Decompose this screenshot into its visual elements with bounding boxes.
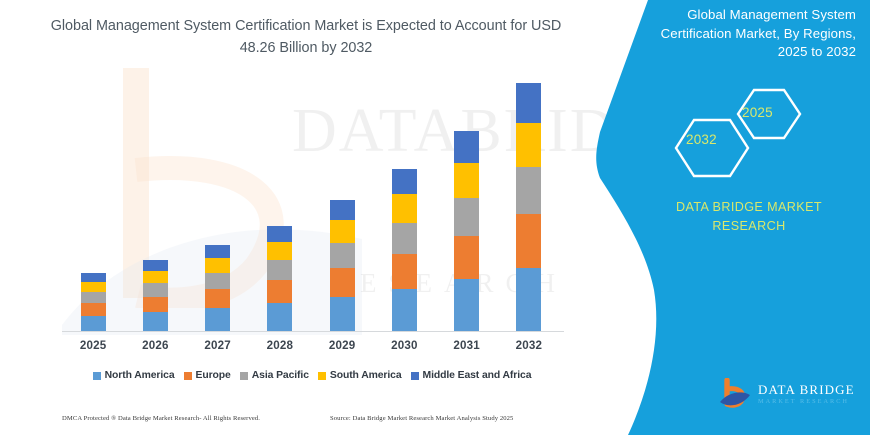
segment-europe[interactable]: [516, 214, 541, 267]
segment-south-america[interactable]: [81, 282, 106, 292]
segment-north-america[interactable]: [143, 312, 168, 331]
x-axis-line: [62, 331, 564, 332]
segment-south-america[interactable]: [267, 242, 292, 260]
segment-middle-east-and-africa[interactable]: [81, 273, 106, 282]
segment-asia-pacific[interactable]: [143, 283, 168, 296]
segment-asia-pacific[interactable]: [81, 292, 106, 303]
panel-brand-text: DATA BRIDGE MARKET RESEARCH: [642, 198, 856, 236]
segment-middle-east-and-africa[interactable]: [143, 260, 168, 271]
segment-north-america[interactable]: [330, 297, 355, 331]
segment-asia-pacific[interactable]: [330, 243, 355, 268]
x-label-2030: 2030: [373, 339, 435, 352]
segment-south-america[interactable]: [330, 220, 355, 243]
logo-title: DATA BRIDGE: [758, 383, 855, 396]
segment-middle-east-and-africa[interactable]: [454, 131, 479, 163]
footer-copyright: DMCA Protected ® Data Bridge Market Rese…: [62, 415, 260, 422]
x-label-2025: 2025: [62, 339, 124, 352]
segment-asia-pacific[interactable]: [392, 223, 417, 254]
segment-north-america[interactable]: [205, 308, 230, 331]
logo-subtitle: MARKET RESEARCH: [758, 399, 855, 405]
bar-2031[interactable]: [454, 131, 479, 331]
segment-europe[interactable]: [205, 289, 230, 308]
legend-label: Europe: [196, 370, 231, 381]
legend-item-europe[interactable]: Europe: [184, 370, 231, 381]
segment-asia-pacific[interactable]: [454, 198, 479, 236]
segment-middle-east-and-africa[interactable]: [330, 200, 355, 220]
segment-europe[interactable]: [143, 297, 168, 313]
x-label-2027: 2027: [187, 339, 249, 352]
hexagon-label-2032: 2032: [686, 132, 717, 147]
chart-legend: North AmericaEuropeAsia PacificSouth Ame…: [62, 370, 562, 381]
bar-2030[interactable]: [392, 169, 417, 331]
legend-item-middle-east-and-africa[interactable]: Middle East and Africa: [411, 370, 532, 381]
bar-2025[interactable]: [81, 273, 106, 331]
segment-south-america[interactable]: [205, 258, 230, 273]
bar-2029[interactable]: [330, 200, 355, 331]
hexagon-2032-shape: [676, 120, 748, 176]
hexagon-label-2025: 2025: [742, 105, 773, 120]
footer-source: Source: Data Bridge Market Research Mark…: [330, 415, 513, 422]
segment-middle-east-and-africa[interactable]: [392, 169, 417, 195]
legend-swatch-icon: [184, 372, 192, 380]
segment-europe[interactable]: [81, 303, 106, 316]
segment-south-america[interactable]: [516, 123, 541, 167]
segment-north-america[interactable]: [81, 316, 106, 332]
legend-swatch-icon: [411, 372, 419, 380]
segment-asia-pacific[interactable]: [205, 273, 230, 289]
x-label-2028: 2028: [249, 339, 311, 352]
infographic-canvas: DATABRIDGE RESEARCH Global Management Sy…: [0, 0, 870, 435]
segment-south-america[interactable]: [143, 271, 168, 283]
segment-europe[interactable]: [454, 236, 479, 279]
legend-label: Middle East and Africa: [423, 370, 532, 381]
legend-label: South America: [330, 370, 402, 381]
chart-title: Global Management System Certification M…: [36, 16, 576, 60]
legend-item-south-america[interactable]: South America: [318, 370, 402, 381]
bar-2028[interactable]: [267, 226, 292, 331]
panel-title: Global Management System Certification M…: [642, 6, 856, 62]
segment-asia-pacific[interactable]: [516, 167, 541, 215]
data-bridge-b-icon: [718, 378, 752, 410]
x-label-2029: 2029: [311, 339, 373, 352]
segment-middle-east-and-africa[interactable]: [516, 83, 541, 123]
bar-2032[interactable]: [516, 83, 541, 331]
segment-north-america[interactable]: [516, 268, 541, 331]
segment-middle-east-and-africa[interactable]: [205, 245, 230, 258]
legend-swatch-icon: [240, 372, 248, 380]
segment-north-america[interactable]: [454, 279, 479, 331]
bar-2026[interactable]: [143, 260, 168, 331]
legend-label: North America: [105, 370, 175, 381]
logo-wordmark: DATA BRIDGE MARKET RESEARCH: [758, 383, 855, 405]
stacked-bar-plot: [62, 78, 560, 331]
segment-asia-pacific[interactable]: [267, 260, 292, 280]
legend-swatch-icon: [93, 372, 101, 380]
x-label-2032: 2032: [498, 339, 560, 352]
x-label-2026: 2026: [124, 339, 186, 352]
hexagon-pair: 2025 2032: [668, 86, 818, 182]
segment-south-america[interactable]: [392, 194, 417, 222]
segment-north-america[interactable]: [267, 303, 292, 331]
segment-north-america[interactable]: [392, 289, 417, 331]
legend-item-asia-pacific[interactable]: Asia Pacific: [240, 370, 309, 381]
segment-europe[interactable]: [330, 268, 355, 296]
legend-item-north-america[interactable]: North America: [93, 370, 175, 381]
x-label-2031: 2031: [436, 339, 498, 352]
bar-2027[interactable]: [205, 245, 230, 331]
legend-label: Asia Pacific: [252, 370, 309, 381]
data-bridge-logo: DATA BRIDGE MARKET RESEARCH: [718, 374, 860, 414]
segment-europe[interactable]: [267, 280, 292, 303]
x-axis-labels: 20252026202720282029203020312032: [62, 339, 560, 359]
segment-middle-east-and-africa[interactable]: [267, 226, 292, 242]
segment-south-america[interactable]: [454, 163, 479, 198]
legend-swatch-icon: [318, 372, 326, 380]
segment-europe[interactable]: [392, 254, 417, 289]
